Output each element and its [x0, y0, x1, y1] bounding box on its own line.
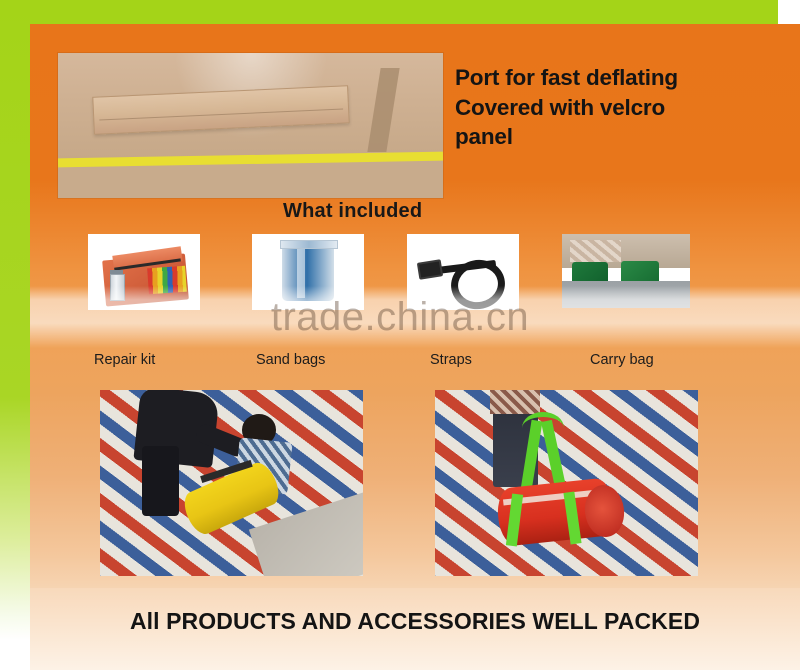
- carry-bag-fabric: [570, 240, 621, 262]
- product-detail-image: Port for fast deflating Covered with vel…: [0, 0, 800, 670]
- carry-bag-grey: [562, 281, 690, 308]
- included-section-title: What included: [283, 200, 422, 223]
- green-left-border: [0, 0, 30, 640]
- thumbnail-carry-bag: [562, 234, 690, 308]
- thumbnail-sand-bags: [252, 234, 364, 310]
- bottom-caption-text: All PRODUCTS AND ACCESSORIES WELL PACKED: [30, 608, 800, 635]
- top-right-white-corner: [778, 0, 800, 24]
- sand-bag-pouch: [282, 243, 334, 301]
- thumbnail-repair-kit: [88, 234, 200, 310]
- repair-kit-glue-tube: [110, 274, 124, 302]
- rolling-photo: [100, 390, 363, 576]
- headline-text: Port for fast deflating Covered with vel…: [455, 63, 785, 152]
- sand-bag-highlight: [297, 246, 305, 298]
- person-plaid-shirt: [490, 390, 540, 414]
- label-repair-kit: Repair kit: [94, 352, 155, 368]
- label-carry-bag: Carry bag: [590, 352, 654, 368]
- green-top-border: [0, 0, 778, 24]
- carrying-photo: [435, 390, 698, 576]
- repair-kit-patches: [148, 266, 188, 294]
- headline-line-3: panel: [455, 122, 785, 152]
- label-sand-bags: Sand bags: [256, 352, 325, 368]
- velcro-seam: [99, 109, 343, 121]
- adult-leg: [142, 446, 179, 517]
- thumbnail-straps: [407, 234, 519, 310]
- deflation-port-photo: [58, 53, 443, 198]
- strap-buckle: [417, 260, 444, 280]
- label-straps: Straps: [430, 352, 472, 368]
- hero-striped-tarp: [58, 162, 443, 198]
- headline-line-2: Covered with velcro: [455, 93, 785, 123]
- headline-line-1: Port for fast deflating: [455, 63, 785, 93]
- included-items-row: Repair kit Sand bags Straps Carry bag: [30, 234, 800, 374]
- sand-bag-zip-top: [280, 240, 338, 249]
